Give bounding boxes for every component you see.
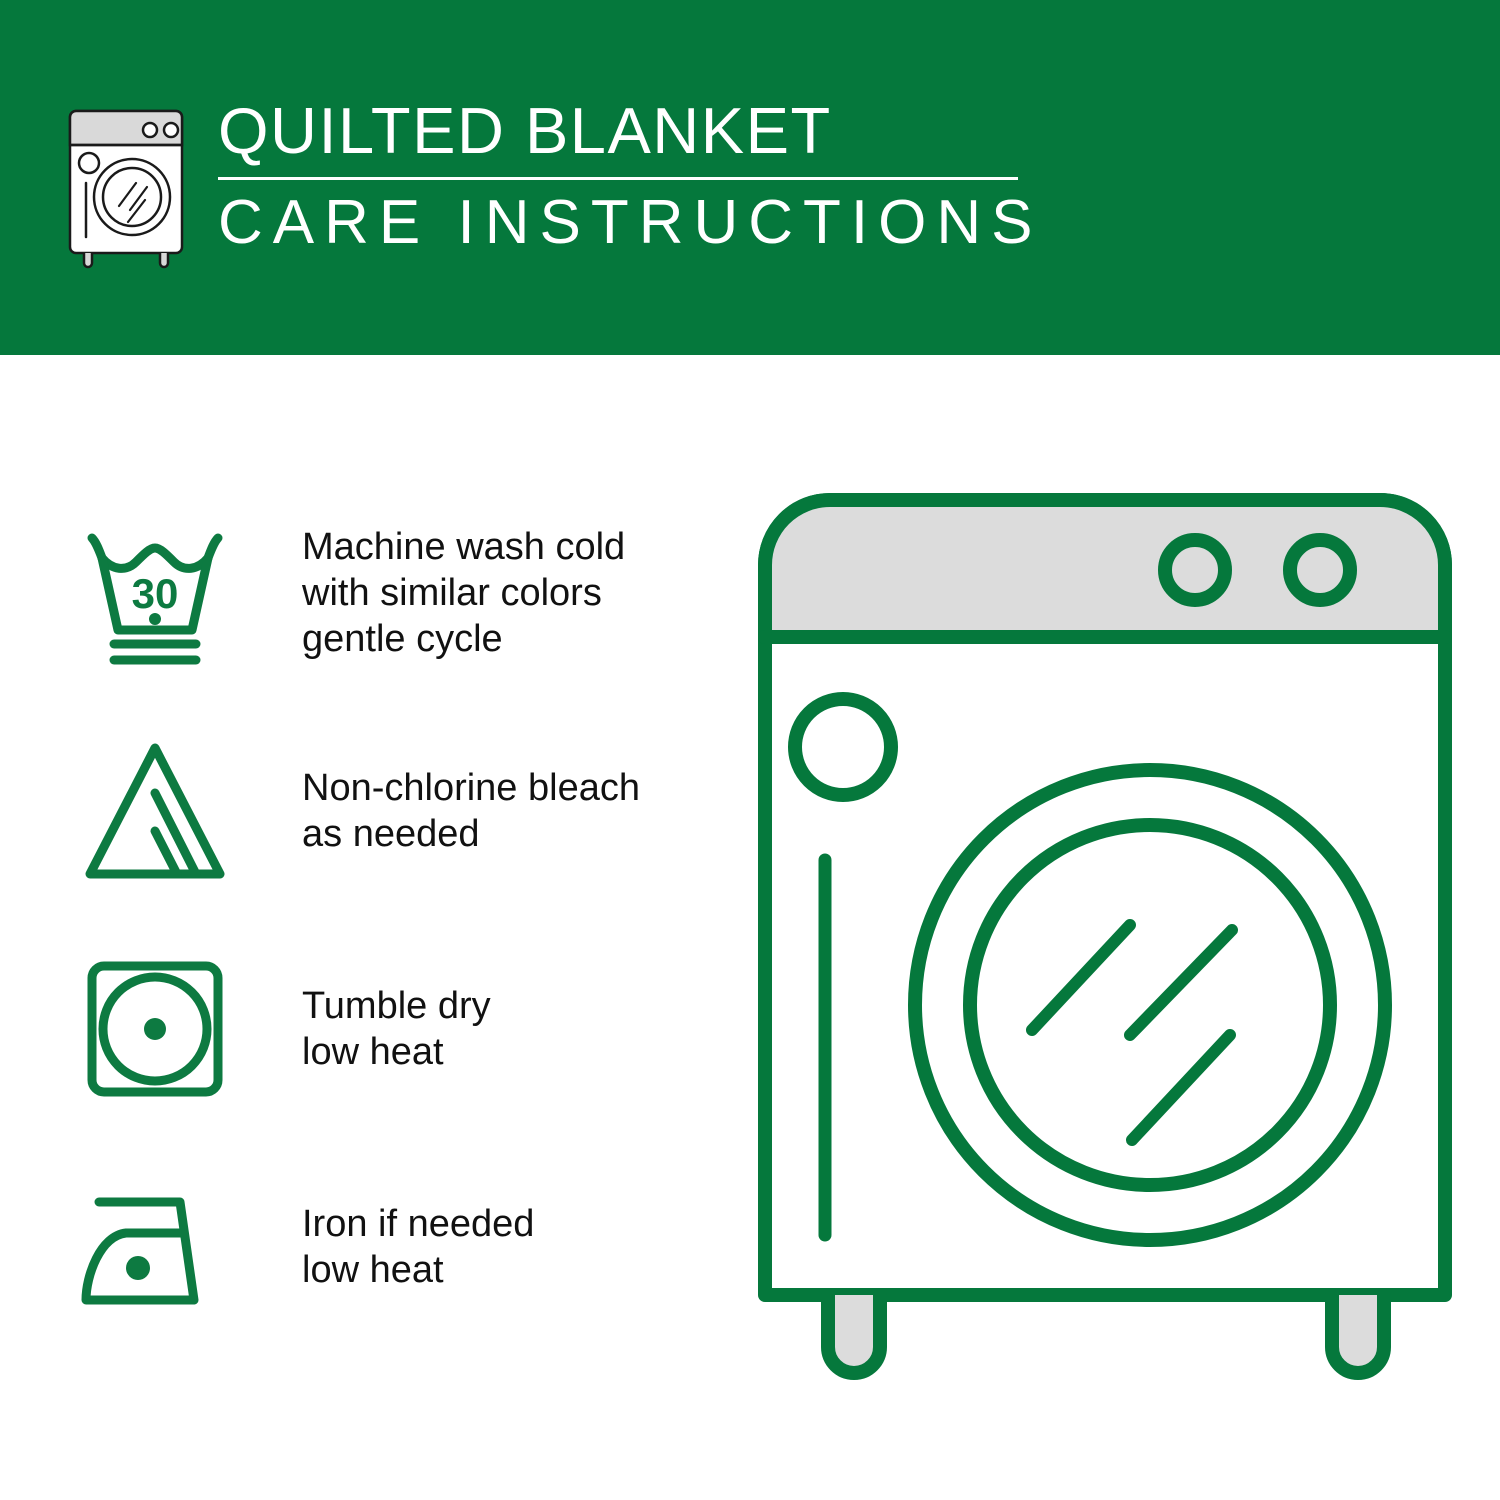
care-row-tumble-dry: Tumble dry low heat [70,941,710,1117]
wash-tub-30-gentle-icon: 30 [70,518,240,668]
tumble-dry-low-heat-icon [70,954,240,1104]
care-row-iron: Iron if needed low heat [70,1159,710,1335]
page-subtitle: CARE INSTRUCTIONS [218,188,1042,258]
svg-text:30: 30 [132,570,179,617]
header-text: QUILTED BLANKET CARE INSTRUCTIONS [218,95,1042,258]
care-row-machine-wash: 30 Machine wash cold with similar colors… [70,505,710,681]
header-banner: QUILTED BLANKET CARE INSTRUCTIONS [0,0,1500,355]
front-load-washing-machine-illustration [740,475,1470,1405]
non-chlorine-bleach-triangle-icon [70,736,240,886]
care-label-tumble-dry: Tumble dry low heat [302,983,491,1075]
main-content: 30 Machine wash cold with similar colors… [0,355,1500,1500]
care-label-bleach: Non-chlorine bleach as needed [302,765,640,857]
washing-machine-icon [62,105,190,270]
title-divider [218,177,1018,180]
page-title: QUILTED BLANKET [218,95,1042,167]
care-label-iron: Iron if needed low heat [302,1201,534,1293]
care-row-bleach: Non-chlorine bleach as needed [70,723,710,899]
care-label-machine-wash: Machine wash cold with similar colors ge… [302,524,625,662]
iron-low-heat-icon [70,1172,240,1322]
header-content: QUILTED BLANKET CARE INSTRUCTIONS [62,95,1042,270]
care-instruction-list: 30 Machine wash cold with similar colors… [70,505,710,1335]
